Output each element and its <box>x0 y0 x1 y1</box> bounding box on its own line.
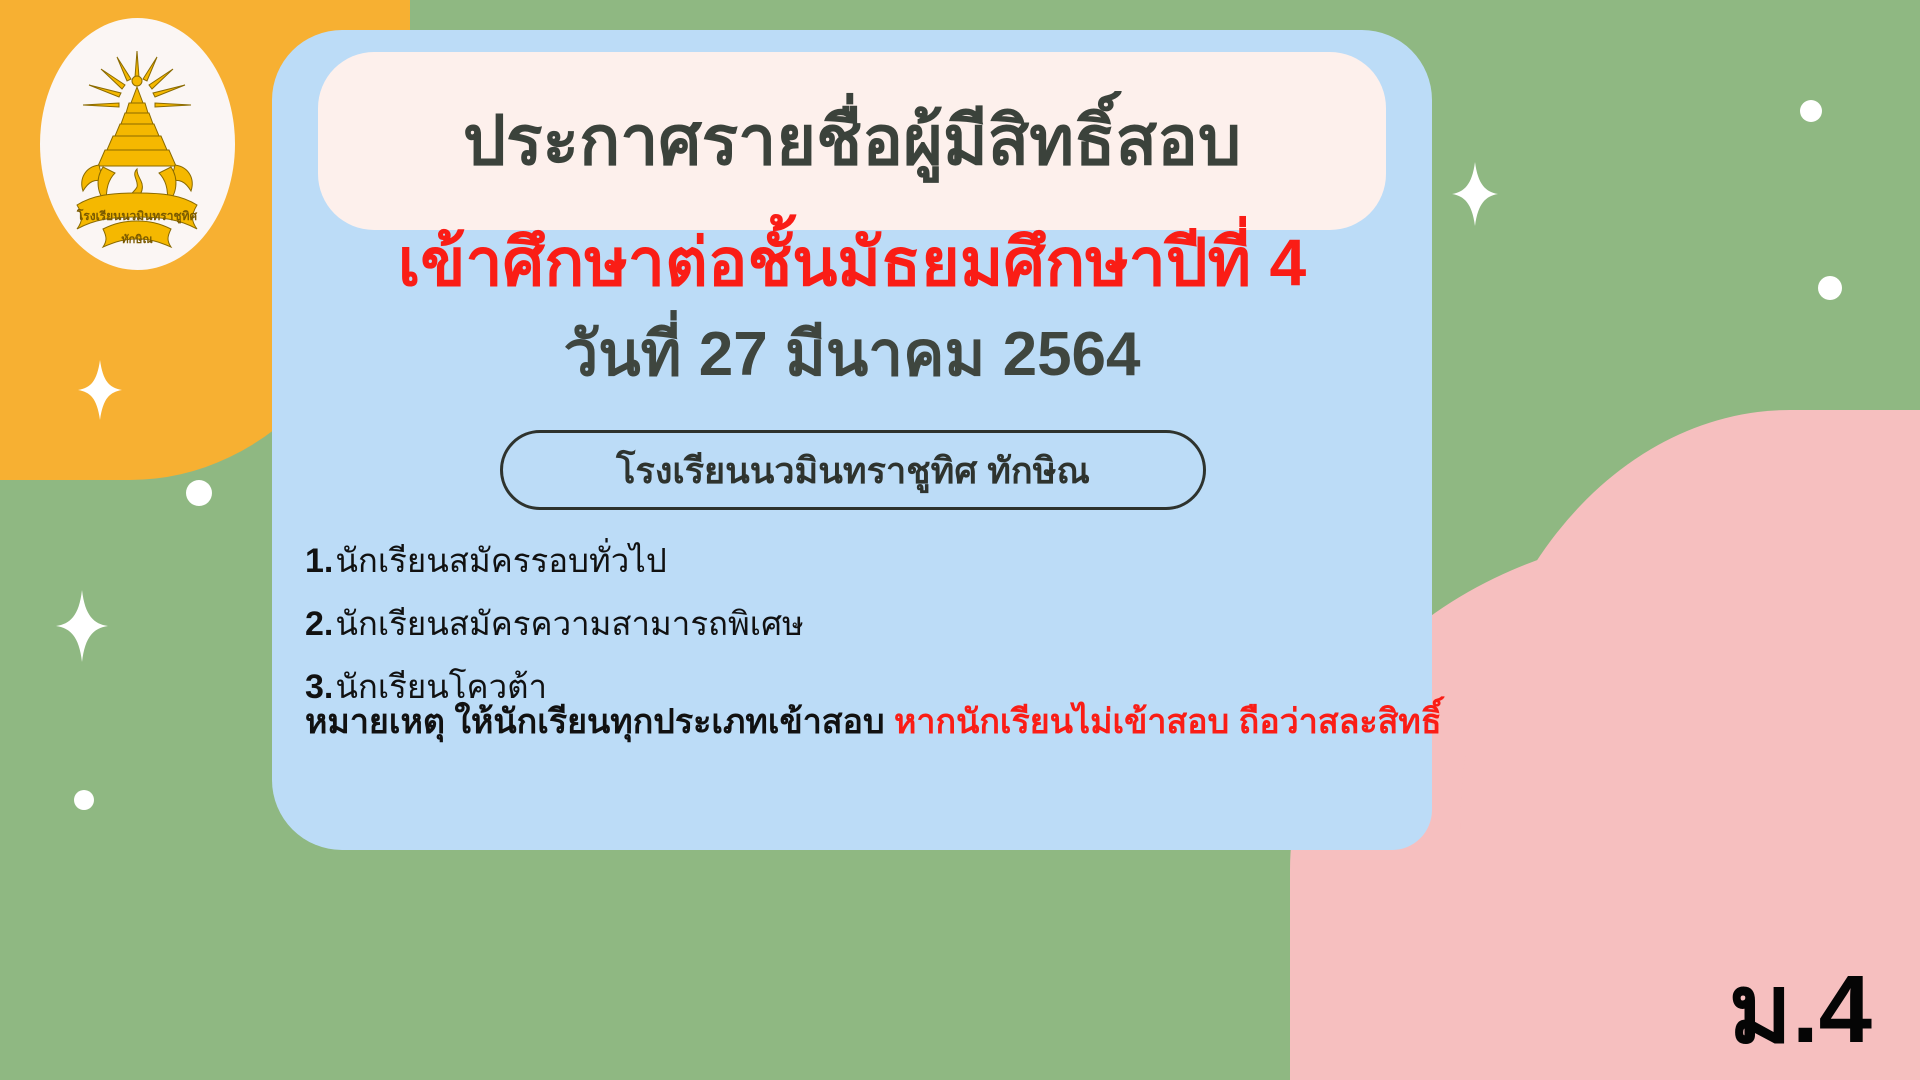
school-name-pill: โรงเรียนนวมินทราชูทิศ ทักษิณ <box>500 430 1206 510</box>
list-item-label: นักเรียนสมัครรอบทั่วไป <box>335 534 666 587</box>
list-item-number: 2. <box>305 605 333 644</box>
announcement-poster: โรงเรียนนวมินทราชูทิศ ทักษิณ ประกาศรายชื… <box>0 0 1920 1080</box>
sparkle-icon <box>56 590 108 662</box>
logo-ribbon-top-text: โรงเรียนนวมินทราชูทิศ <box>76 208 198 224</box>
sparkle-icon <box>1452 162 1498 226</box>
headline-grade-level: เข้าศึกษาต่อชั้นมัธยมศึกษาปีที่ 4 <box>272 228 1432 297</box>
note-text: หมายเหตุ ให้นักเรียนทุกประเภทเข้าสอบ หาก… <box>305 700 1445 746</box>
decorative-dot <box>1800 100 1822 122</box>
sparkle-icon <box>78 360 122 420</box>
title-plate: ประกาศรายชื่อผู้มีสิทธิ์สอบ <box>318 52 1386 230</box>
school-name: โรงเรียนนวมินทราชูทิศ ทักษิณ <box>616 442 1090 499</box>
list-item: 1. นักเรียนสมัครรอบทั่วไป <box>305 534 1425 587</box>
page-title: ประกาศรายชื่อผู้มีสิทธิ์สอบ <box>463 107 1241 175</box>
list-item-label: นักเรียนสมัครความสามารถพิเศษ <box>335 597 803 650</box>
school-crest-logo: โรงเรียนนวมินทราชูทิศ ทักษิณ <box>40 18 235 270</box>
list-item: 2. นักเรียนสมัครความสามารถพิเศษ <box>305 597 1425 650</box>
grade-badge: ม.4 <box>1729 962 1872 1058</box>
exam-date: วันที่ 27 มีนาคม 2564 <box>272 322 1432 387</box>
note-red-part: หากนักเรียนไม่เข้าสอบ ถือว่าสละสิทธิ์ <box>894 703 1442 741</box>
list-item-number: 1. <box>305 542 333 581</box>
decorative-dot <box>186 480 212 506</box>
note-black-part: หมายเหตุ ให้นักเรียนทุกประเภทเข้าสอบ <box>305 703 894 741</box>
candidate-category-list: 1. นักเรียนสมัครรอบทั่วไป 2. นักเรียนสมั… <box>305 534 1425 723</box>
decorative-dot <box>74 790 94 810</box>
logo-ribbon-bottom-text: ทักษิณ <box>121 233 153 246</box>
decorative-dot <box>1818 276 1842 300</box>
